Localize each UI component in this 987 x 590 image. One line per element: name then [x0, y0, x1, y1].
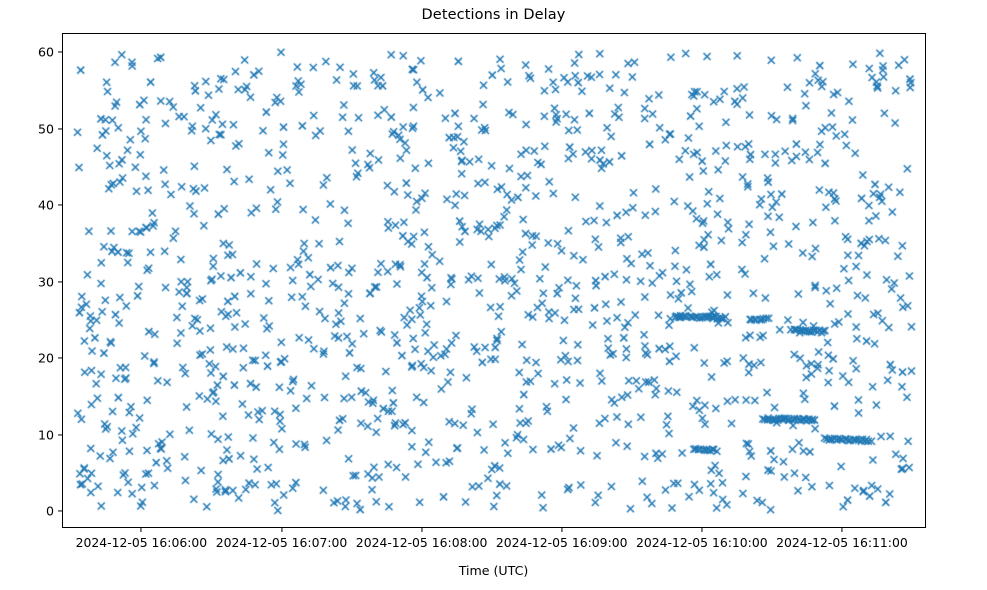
x-tick-label: 2024-12-05 16:10:00	[636, 535, 768, 550]
x-tick-label: 2024-12-05 16:06:00	[76, 535, 208, 550]
x-tick-label: 2024-12-05 16:11:00	[776, 535, 908, 550]
matplotlib-figure: Detections in Delay Bistatic Delay (km) …	[0, 0, 987, 590]
chart-title: Detections in Delay	[0, 7, 987, 23]
x-axis-label: Time (UTC)	[0, 563, 987, 578]
x-tick-label: 2024-12-05 16:08:00	[356, 535, 488, 550]
x-tick-label: 2024-12-05 16:07:00	[216, 535, 348, 550]
x-tick-label: 2024-12-05 16:09:00	[496, 535, 628, 550]
x-tick-mark	[141, 528, 142, 532]
scatter-series	[63, 34, 926, 528]
x-tick-mark	[701, 528, 702, 532]
x-tick-mark	[561, 528, 562, 532]
x-tick-mark	[421, 528, 422, 532]
x-tick-mark	[841, 528, 842, 532]
plot-area	[62, 33, 926, 528]
x-tick-mark	[281, 528, 282, 532]
